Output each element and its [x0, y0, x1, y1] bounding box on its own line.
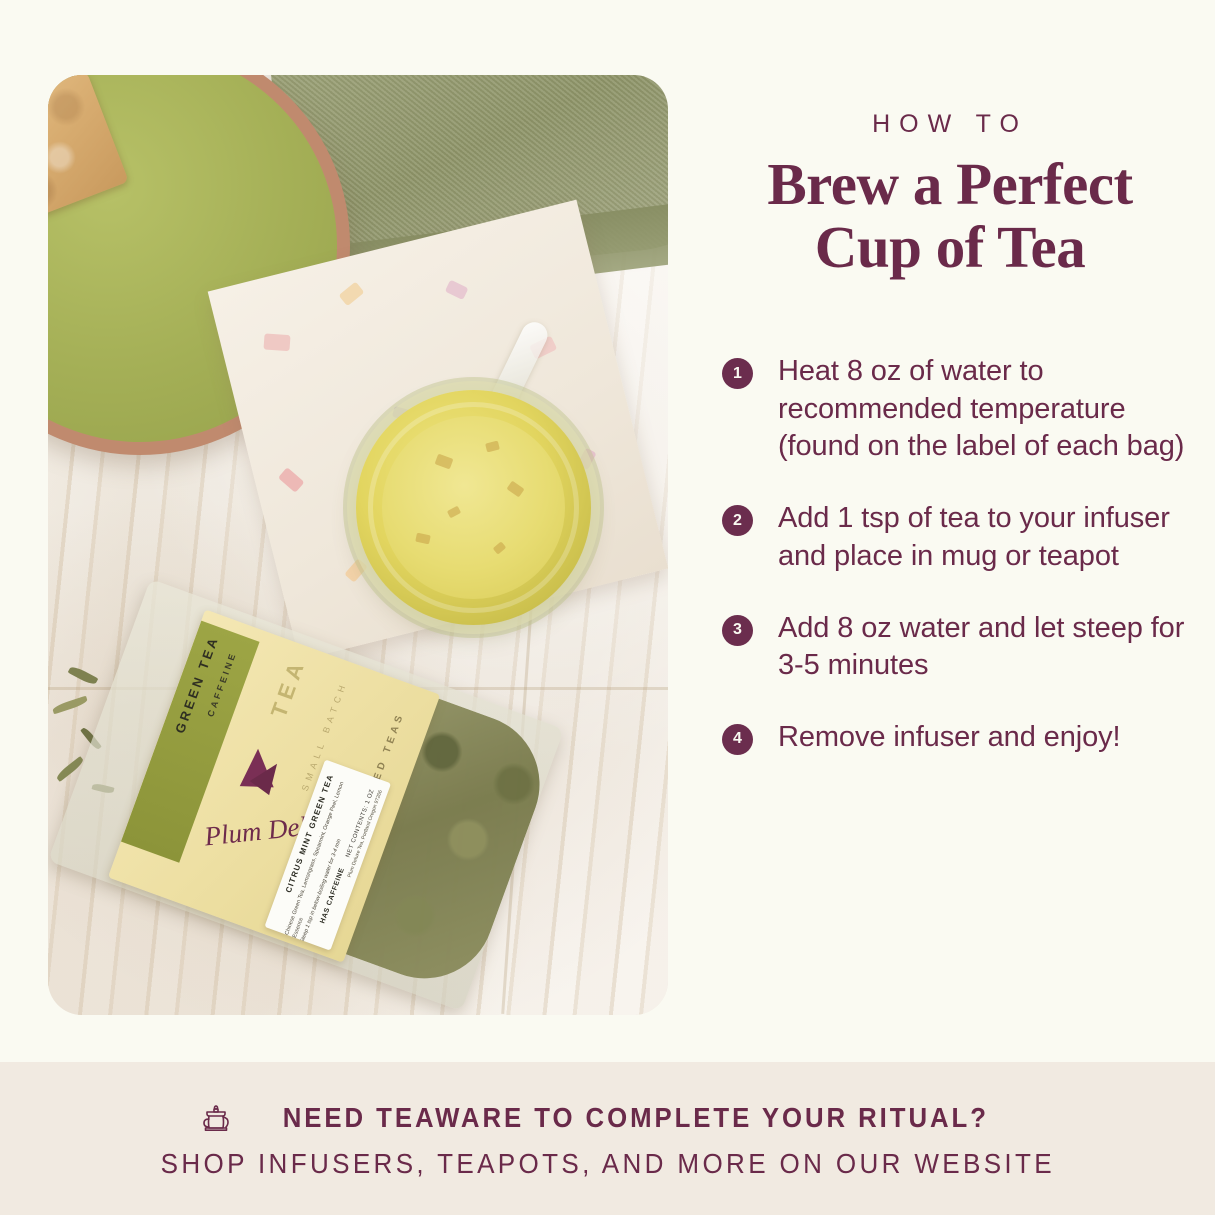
step-number-badge: 3 — [722, 615, 753, 646]
glass-teacup — [356, 390, 591, 625]
page-title: Brew a Perfect Cup of Tea — [700, 153, 1200, 278]
footer-line-2: SHOP INFUSERS, TEAPOTS, AND MORE ON OUR … — [160, 1148, 1054, 1180]
terrazzo-chip — [339, 282, 365, 307]
step-number-badge: 1 — [722, 358, 753, 389]
step-number-badge: 2 — [722, 505, 753, 536]
title-line-2: Cup of Tea — [815, 214, 1085, 280]
hero-photo: GREEN TEA CAFFEINE HAND BLENDED TEAS TEA… — [48, 75, 668, 1015]
tea-fleck — [415, 533, 431, 545]
title-line-1: Brew a Perfect — [767, 151, 1132, 217]
terrazzo-chip — [263, 333, 290, 351]
cracker — [48, 75, 129, 239]
tea-fleck — [435, 454, 454, 470]
footer-banner: NEED TEAWARE TO COMPLETE YOUR RITUAL? SH… — [0, 1062, 1215, 1215]
tea-fleck — [506, 481, 524, 498]
terrazzo-chip — [344, 558, 368, 582]
infographic-page: GREEN TEA CAFFEINE HAND BLENDED TEAS TEA… — [0, 0, 1215, 1215]
step-text: Remove infuser and enjoy! — [778, 719, 1120, 757]
step-item: 4 Remove infuser and enjoy! — [722, 719, 1200, 757]
tea-fleck — [447, 506, 461, 519]
tea-fleck — [493, 541, 507, 554]
step-item: 2 Add 1 tsp of tea to your infuser and p… — [722, 500, 1200, 575]
instructions-column: HOW TO Brew a Perfect Cup of Tea 1 Heat … — [700, 0, 1200, 1040]
teapot-icon — [196, 1098, 236, 1138]
footer-line-1: NEED TEAWARE TO COMPLETE YOUR RITUAL? — [282, 1102, 988, 1134]
footer-headline-row: NEED TEAWARE TO COMPLETE YOUR RITUAL? — [196, 1098, 1020, 1138]
terrazzo-chip — [278, 467, 305, 493]
step-text: Add 8 oz water and let steep for 3-5 min… — [778, 610, 1200, 685]
terrazzo-chip — [445, 280, 469, 300]
step-number-badge: 4 — [722, 724, 753, 755]
eyebrow-text: HOW TO — [700, 110, 1200, 139]
step-item: 3 Add 8 oz water and let steep for 3-5 m… — [722, 610, 1200, 685]
tea-fleck — [485, 441, 500, 453]
step-text: Heat 8 oz of water to recommended temper… — [778, 353, 1200, 466]
steps-list: 1 Heat 8 oz of water to recommended temp… — [700, 353, 1200, 757]
step-item: 1 Heat 8 oz of water to recommended temp… — [722, 353, 1200, 466]
step-text: Add 1 tsp of tea to your infuser and pla… — [778, 500, 1200, 575]
package-arc-text: TEA — [266, 654, 312, 721]
tea-liquid — [382, 416, 565, 599]
